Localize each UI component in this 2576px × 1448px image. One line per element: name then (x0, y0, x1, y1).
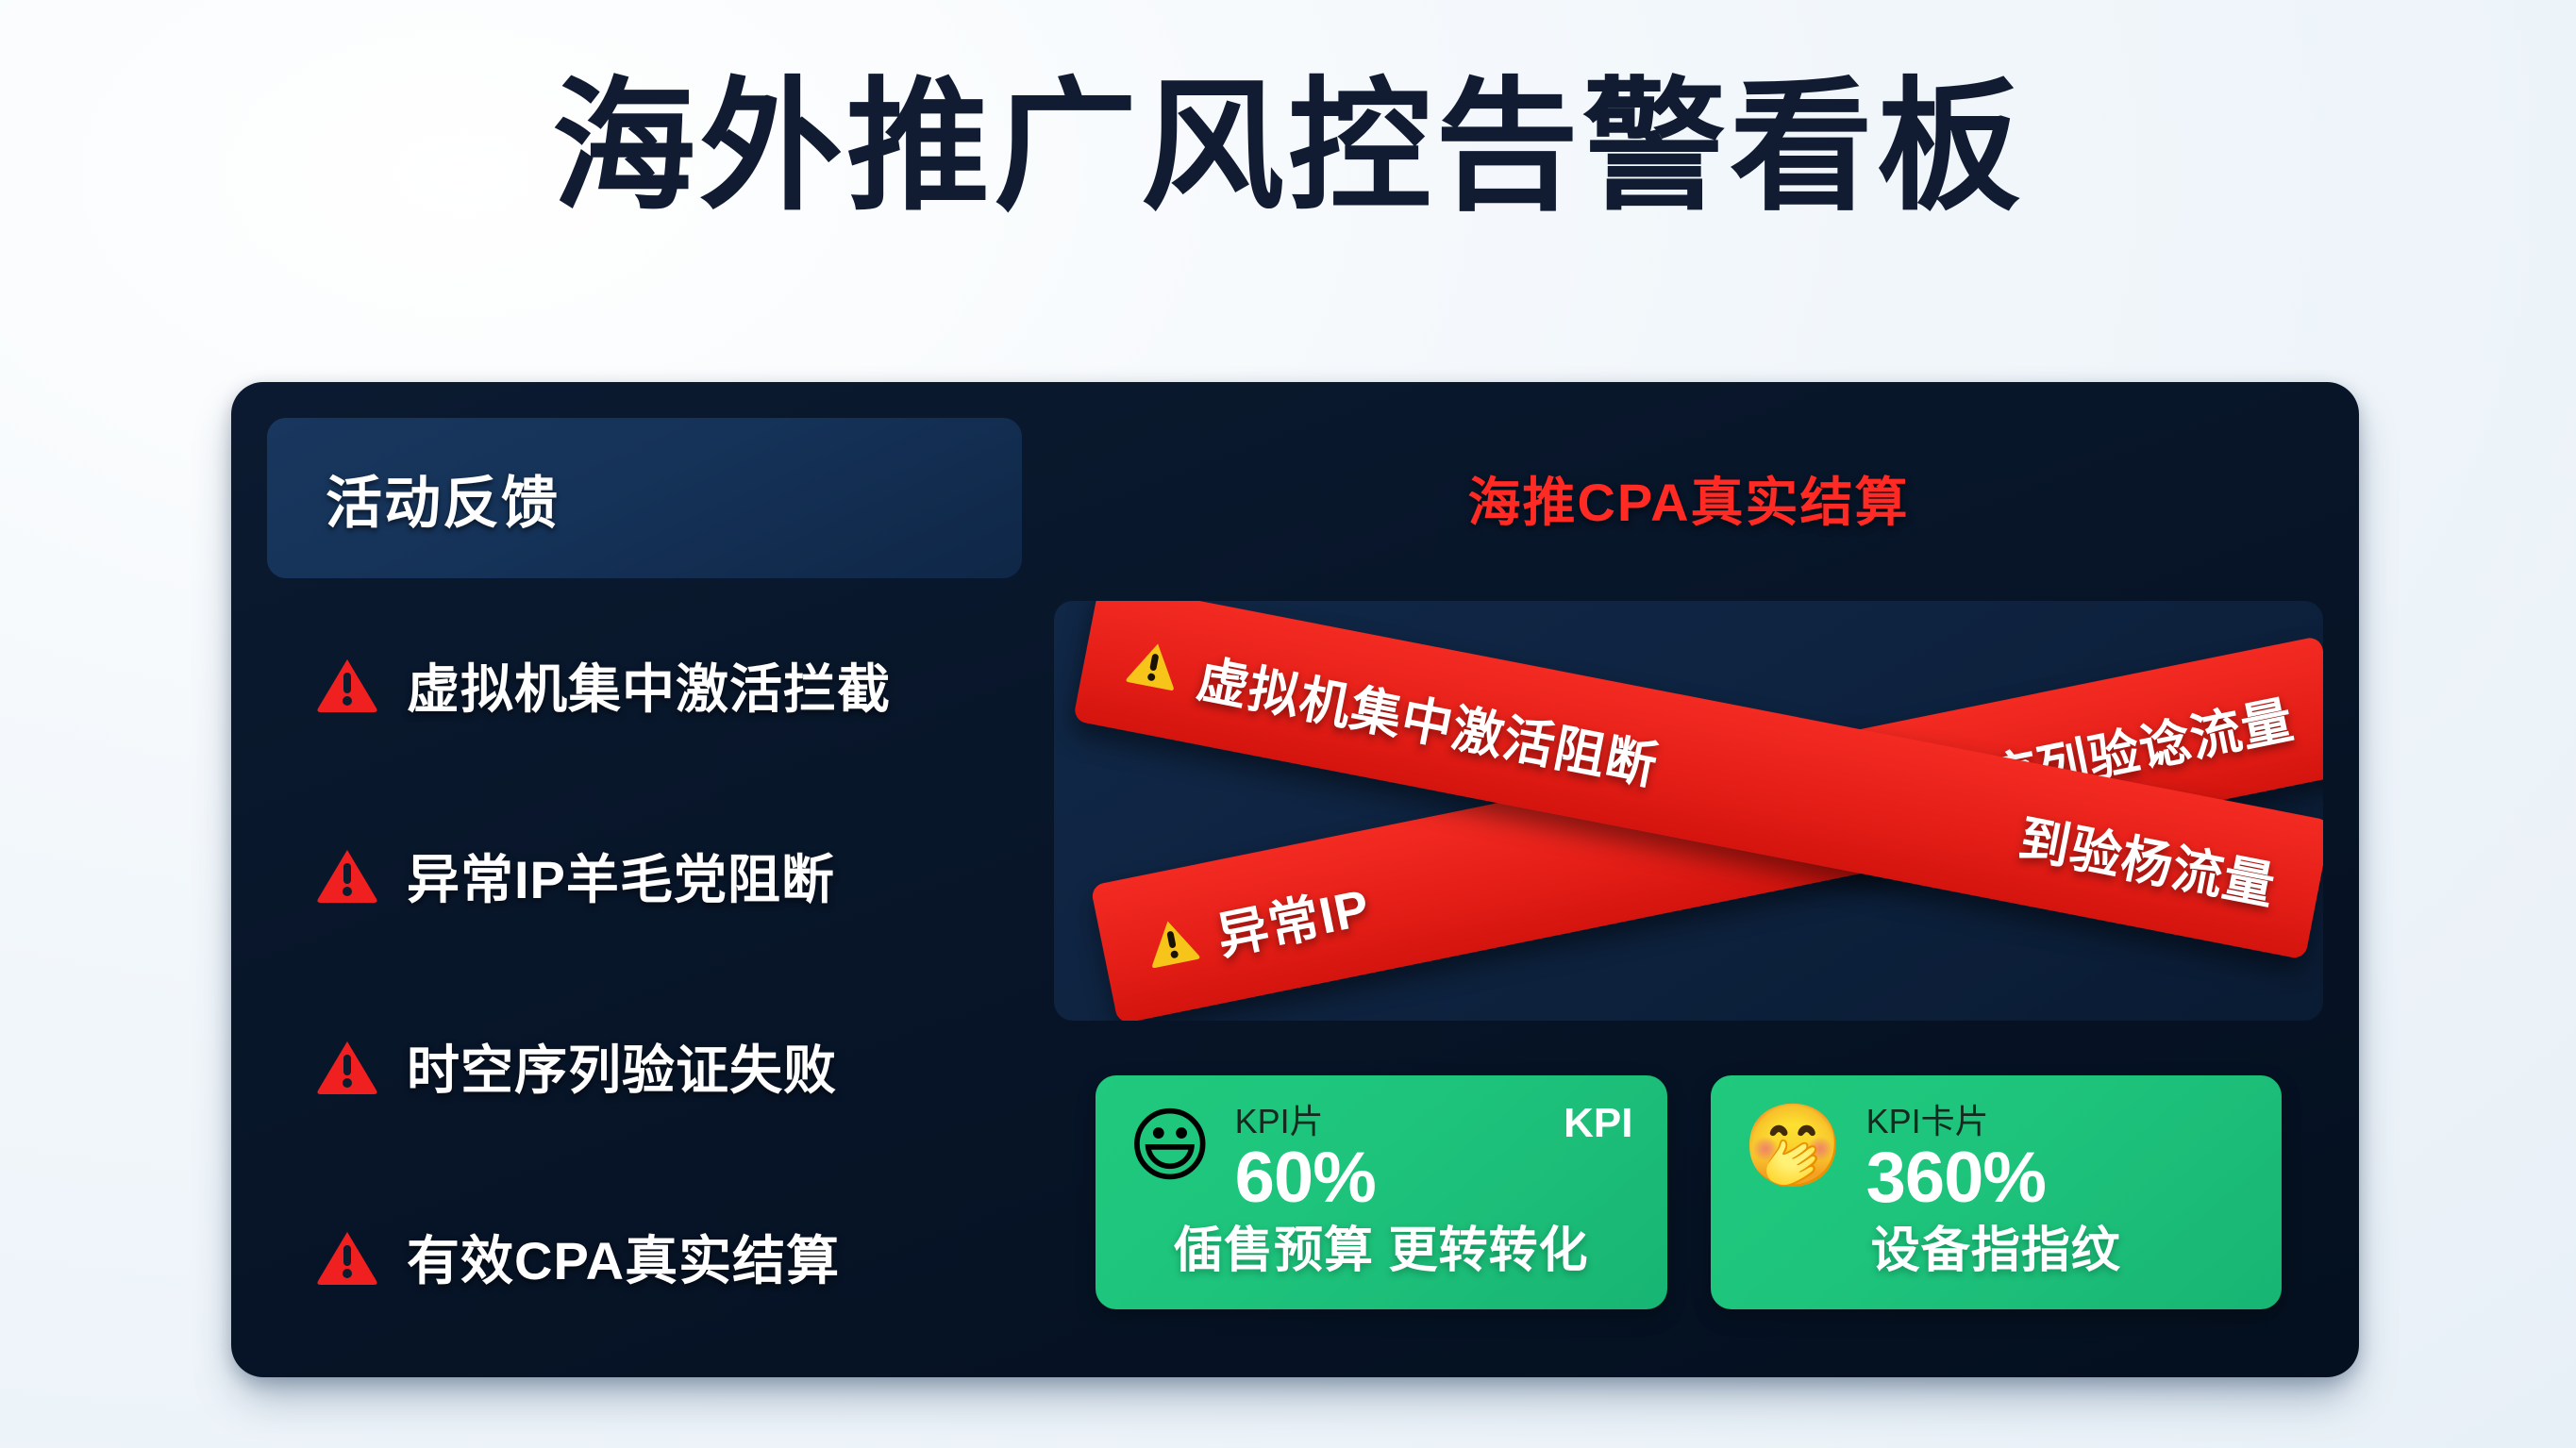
warning-triangle-icon (316, 657, 378, 712)
main-column: 海推CPA真实结算 异常IP 时空序列验谂流量 (1054, 418, 2323, 1341)
sidebar-item-label: 异常IP羊毛党阻断 (407, 838, 835, 914)
main-header: 海推CPA真实结算 (1054, 418, 2323, 578)
banner-left-label: 异常IP (1210, 865, 1376, 969)
warning-triangle-icon (1125, 637, 1183, 691)
kpi-card-kicker: KPI片 (1235, 1102, 1376, 1140)
kpi-card-device-fingerprint[interactable]: 🤭 KPI卡片 360% 设备指指纹 (1711, 1075, 2283, 1309)
kpi-card-metric: KPI片 60% (1235, 1102, 1376, 1216)
warning-triangle-icon (316, 1230, 378, 1285)
sidebar-item-abnormal-ip-block[interactable]: 异常IP羊毛党阻断 (267, 791, 1022, 959)
sidebar-item-label: 时空序列验证失败 (407, 1028, 837, 1105)
banner-right-label: 到验杨流量 (2014, 796, 2283, 919)
kpi-card-budget-conversion[interactable]: 😃 KPI片 60% KPI 偛售预算 更转转化 (1096, 1075, 1667, 1309)
main-header-label: 海推CPA真实结算 (1467, 460, 1909, 537)
face-with-hand-over-mouth-emoji: 🤭 (1743, 1106, 1844, 1187)
kpi-card-value: 60% (1235, 1140, 1376, 1216)
page-title: 海外推广风控告警看板 (0, 75, 2576, 219)
kpi-card-caption: 设备指指纹 (1711, 1210, 2283, 1281)
warning-triangle-icon (316, 1040, 378, 1094)
banner-left-label: 虚拟机集中激活阻断 (1192, 637, 1664, 799)
banner-zone: 异常IP 时空序列验谂流量 虚拟机集中激活阻断 (1054, 601, 2323, 1021)
banner-left-segment: 异常IP (1140, 865, 1376, 983)
alert-list: 虚拟机集中激活拦截 异常IP羊毛党阻断 时空序列验证失败 有效CPA真实结算 (267, 601, 1022, 1341)
kpi-card-corner-badge: KPI (1564, 1100, 1632, 1147)
kpi-card-top: 🤭 KPI卡片 360% (1743, 1102, 2250, 1216)
sidebar-header: 活动反馈 (267, 418, 1022, 578)
banner-right-segment: 到验杨流量 (2014, 796, 2283, 919)
warning-triangle-icon (1143, 914, 1201, 969)
grinning-face-emoji: 😃 (1128, 1106, 1213, 1187)
sidebar: 活动反馈 虚拟机集中激活拦截 异常IP羊毛党阻断 时空序列验证失败 (267, 418, 1022, 1341)
sidebar-item-vm-activation-block[interactable]: 虚拟机集中激活拦截 (267, 601, 1022, 769)
kpi-card-caption: 偛售预算 更转转化 (1096, 1210, 1667, 1281)
kpi-card-kicker: KPI卡片 (1866, 1102, 2046, 1140)
sidebar-item-valid-cpa-settlement[interactable]: 有效CPA真实结算 (267, 1173, 1022, 1341)
dashboard-board: 活动反馈 虚拟机集中激活拦截 异常IP羊毛党阻断 时空序列验证失败 (231, 382, 2359, 1377)
kpi-card-value: 360% (1866, 1140, 2046, 1216)
sidebar-header-label: 活动反馈 (326, 458, 560, 540)
kpi-card-top: 😃 KPI片 60% (1128, 1102, 1635, 1216)
sidebar-item-spacetime-verify-failed[interactable]: 时空序列验证失败 (267, 983, 1022, 1151)
warning-triangle-icon (316, 848, 378, 903)
banner-left-segment: 虚拟机集中激活阻断 (1122, 623, 1665, 799)
kpi-card-metric: KPI卡片 360% (1866, 1102, 2046, 1216)
kpi-zone: 😃 KPI片 60% KPI 偛售预算 更转转化 🤭 KPI卡片 360% (1054, 1043, 2323, 1341)
sidebar-item-label: 虚拟机集中激活拦截 (407, 647, 891, 724)
sidebar-item-label: 有效CPA真实结算 (407, 1219, 840, 1295)
